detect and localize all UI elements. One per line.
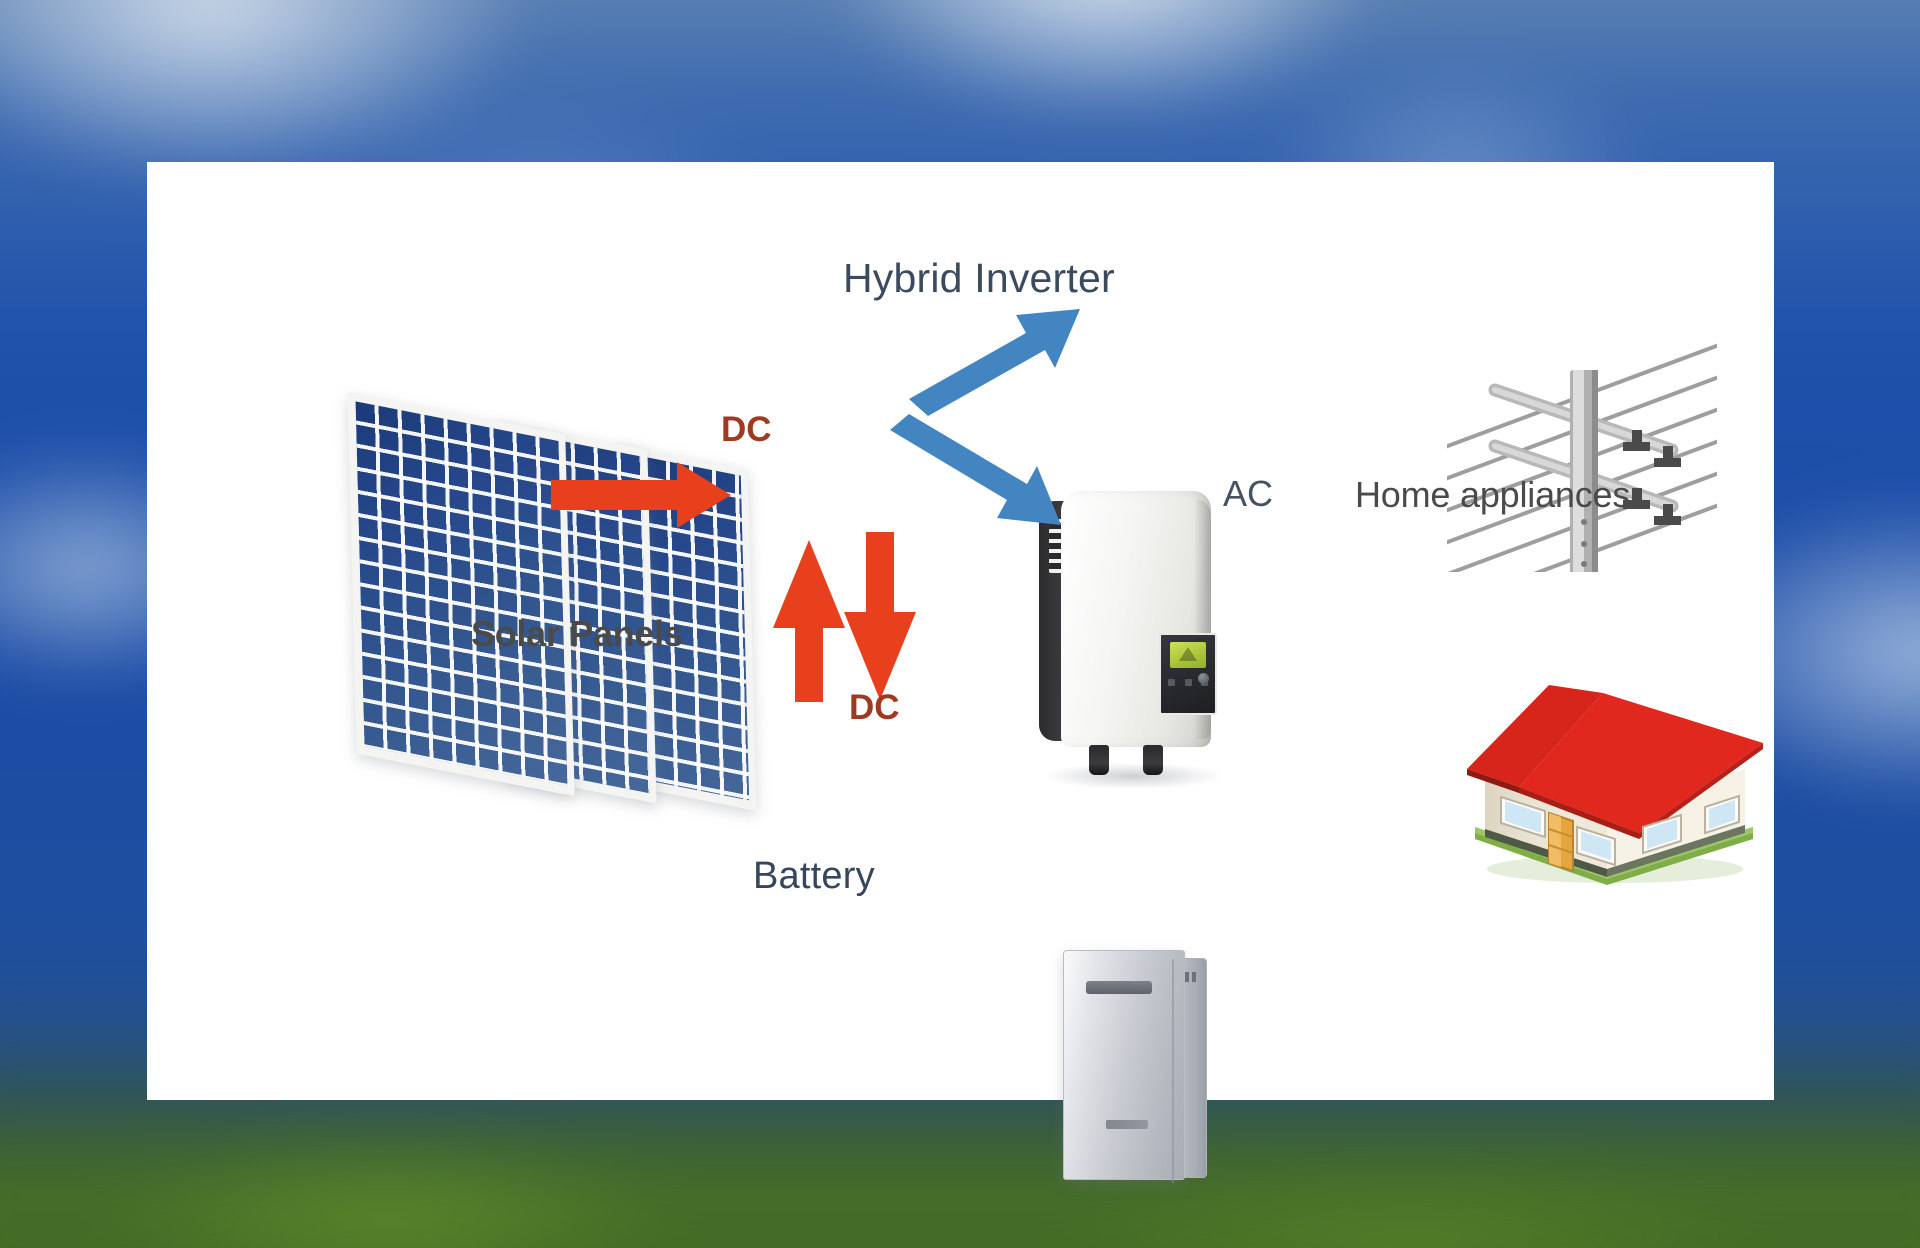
inverter-control-panel [1159,633,1217,715]
battery-seam [1172,959,1174,1183]
inverter-knob [1198,673,1209,684]
label-dc-to-battery: DC [849,688,900,728]
label-hybrid-inverter: Hybrid Inverter [843,255,1115,302]
battery-body [1063,950,1185,1180]
inverter-body [1061,491,1211,747]
inverter-lcd-screen [1170,642,1206,668]
arrow-dc-inverter-to-battery [844,532,916,700]
label-ac: AC [1223,473,1273,515]
label-dc-from-panels: DC [721,410,772,450]
solar-panels-graphic [352,400,802,800]
battery-side-ports [1185,972,1199,982]
utility-pole-svg [1447,332,1717,572]
house-svg [1457,677,1767,887]
diagram-card [147,162,1774,1100]
hybrid-inverter-graphic [1031,487,1236,787]
inverter-connector [1143,745,1163,775]
battery-logo [1106,1120,1148,1129]
label-home-appliances: Home appliances [1355,474,1630,516]
battery-vent-slot [1086,981,1152,994]
label-solar-panels: Solar Panels [471,613,684,655]
pole-mast-shadow [1592,370,1598,572]
inverter-button [1168,679,1175,686]
arrow-ac-inverter-to-grid [909,309,1080,416]
solar-panel-1 [347,392,574,797]
battery-graphic [1059,944,1209,1184]
inverter-connector [1089,745,1109,775]
utility-pole-graphic [1447,332,1717,572]
label-battery: Battery [753,855,875,898]
solar-cells [356,401,568,786]
inverter-button [1185,679,1192,686]
house-door [1549,813,1573,871]
inverter-connectors [1089,745,1163,775]
diagram-stage: Hybrid Inverter Solar Panels Home applia… [0,0,1920,1248]
house-graphic [1457,677,1767,887]
